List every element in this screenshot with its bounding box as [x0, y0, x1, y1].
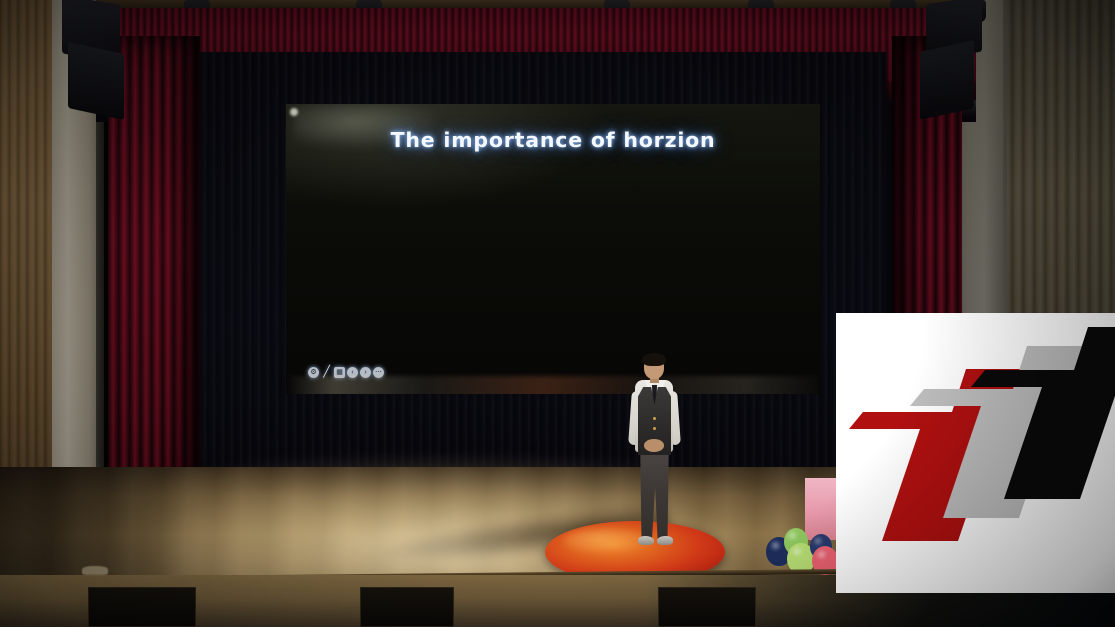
line-array-speaker-left-bottom: [68, 42, 124, 120]
pink-box-prop: [805, 478, 839, 540]
speaker-hands: [644, 439, 664, 452]
screen-bottom-glare: [286, 376, 820, 394]
stage-speaker: [618, 355, 690, 555]
apron-vent-middle: [360, 587, 454, 627]
slide-title-text: The importance of horzion: [286, 128, 820, 152]
speaker-hair: [642, 353, 666, 366]
stage-video-frame: The importance of horzion ⚙╱▦‹›⋯: [0, 0, 1115, 627]
speaker-vest-button-2: [653, 427, 656, 430]
floor-object-prop: [82, 566, 108, 575]
speaker-trousers: [639, 451, 670, 539]
line-array-speaker-right-bottom: [920, 40, 974, 119]
ttt-logo-svg: [836, 313, 1115, 593]
speaker-shoe-right: [657, 536, 673, 545]
screen-corner-highlight: [290, 108, 298, 116]
ttt-logo-panel: [836, 313, 1115, 593]
apron-vent-right: [658, 587, 756, 627]
speaker-vest-button-1: [653, 417, 656, 420]
apron-vent-left: [88, 587, 196, 627]
projection-screen: The importance of horzion ⚙╱▦‹›⋯: [286, 104, 820, 394]
speaker-shoe-left: [638, 536, 654, 545]
